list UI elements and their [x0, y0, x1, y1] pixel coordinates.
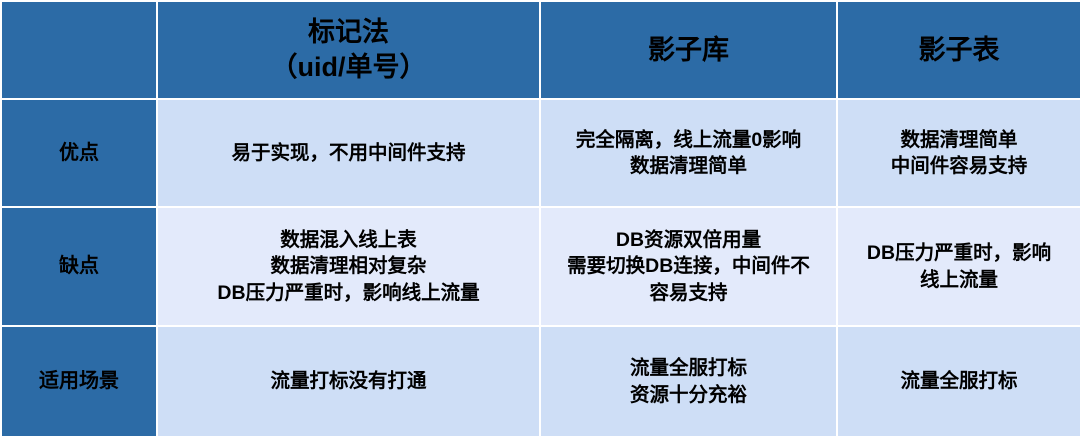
cell-line: DB压力严重时，影响: [846, 240, 1072, 266]
cell-use-shadow-db: 流量全服打标 资源十分充裕: [540, 326, 837, 437]
table-row: 缺点 数据混入线上表 数据清理相对复杂 DB压力严重时，影响线上流量 DB资源双…: [1, 207, 1080, 326]
cell-line: 易于实现，不用中间件支持: [166, 140, 531, 166]
row-label-use-case: 适用场景: [1, 326, 157, 437]
cell-use-shadow-table: 流量全服打标: [837, 326, 1080, 437]
cell-cons-shadow-table: DB压力严重时，影响 线上流量: [837, 207, 1080, 326]
cell-cons-shadow-db: DB资源双倍用量 需要切换DB连接，中间件不 容易支持: [540, 207, 837, 326]
cell-line: 中间件容易支持: [846, 153, 1072, 179]
cell-line: 需要切换DB连接，中间件不: [549, 253, 828, 279]
header-marking-line-1: 标记法: [166, 15, 531, 50]
cell-line: 数据清理简单: [549, 153, 828, 179]
cell-line: DB压力严重时，影响线上流量: [166, 280, 531, 306]
cell-line: 流量打标没有打通: [166, 368, 531, 394]
cell-line: 容易支持: [549, 280, 828, 306]
row-label-pros: 优点: [1, 99, 157, 207]
cell-line: 数据清理相对复杂: [166, 253, 531, 279]
header-cell-shadow-table: 影子表: [837, 1, 1080, 99]
cell-line: 资源十分充裕: [549, 382, 828, 408]
cell-pros-marking: 易于实现，不用中间件支持: [157, 99, 540, 207]
cell-pros-shadow-db: 完全隔离，线上流量0影响 数据清理简单: [540, 99, 837, 207]
header-cell-marking: 标记法 （uid/单号）: [157, 1, 540, 99]
cell-line: 线上流量: [846, 267, 1072, 293]
comparison-table: 标记法 （uid/单号） 影子库 影子表 优点 易于实现，不用中间件支持 完全隔…: [0, 0, 1080, 438]
table-row: 优点 易于实现，不用中间件支持 完全隔离，线上流量0影响 数据清理简单 数据清理…: [1, 99, 1080, 207]
cell-cons-marking: 数据混入线上表 数据清理相对复杂 DB压力严重时，影响线上流量: [157, 207, 540, 326]
cell-pros-shadow-table: 数据清理简单 中间件容易支持: [837, 99, 1080, 207]
header-cell-shadow-db: 影子库: [540, 1, 837, 99]
header-corner-cell: [1, 1, 157, 99]
cell-line: 流量全服打标: [549, 355, 828, 381]
row-label-cons: 缺点: [1, 207, 157, 326]
cell-line: 流量全服打标: [846, 368, 1072, 394]
cell-line: 完全隔离，线上流量0影响: [549, 127, 828, 153]
cell-line: 数据清理简单: [846, 127, 1072, 153]
cell-line: 数据混入线上表: [166, 227, 531, 253]
table-header-row: 标记法 （uid/单号） 影子库 影子表: [1, 1, 1080, 99]
header-marking-line-2: （uid/单号）: [166, 50, 531, 85]
cell-line: DB资源双倍用量: [549, 227, 828, 253]
cell-use-marking: 流量打标没有打通: [157, 326, 540, 437]
table-row: 适用场景 流量打标没有打通 流量全服打标 资源十分充裕 流量全服打标: [1, 326, 1080, 437]
